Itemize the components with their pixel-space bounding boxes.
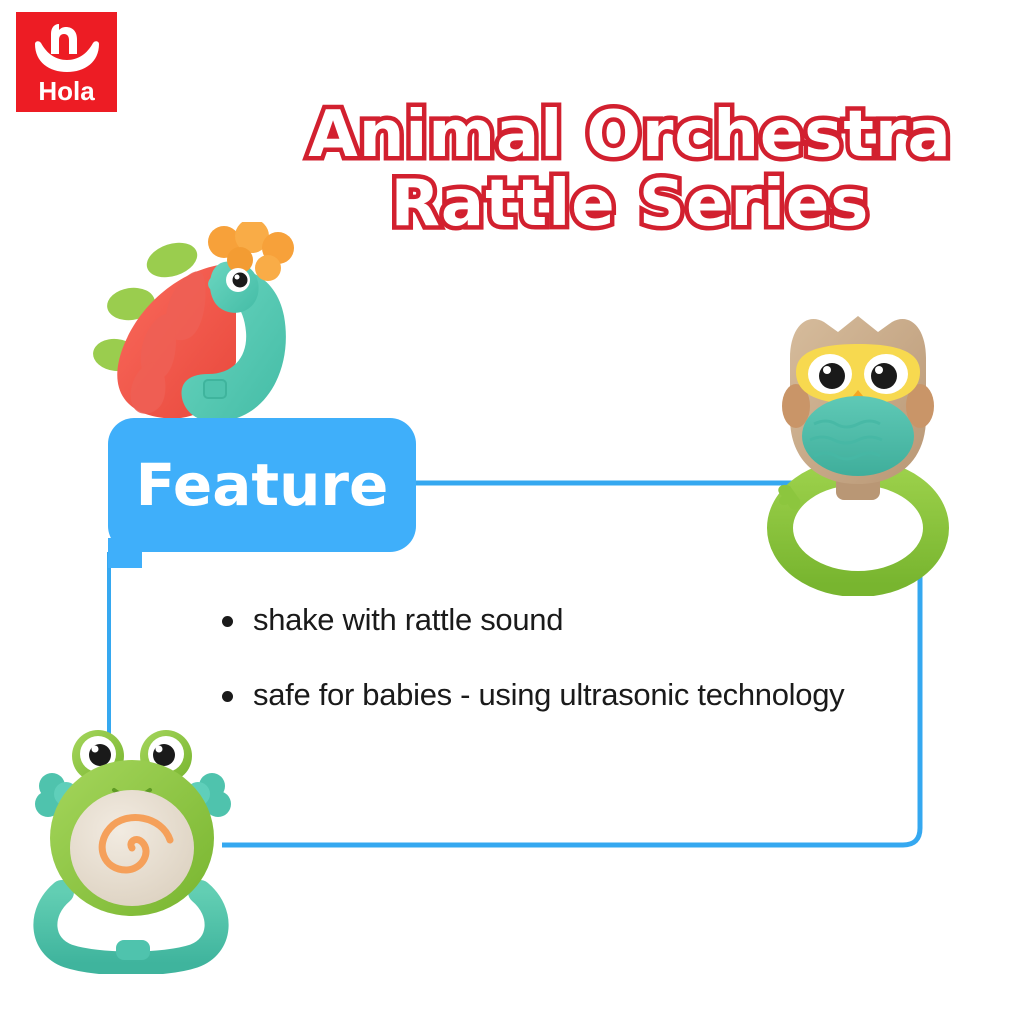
brand-logo: Hola — [16, 12, 117, 112]
feature-badge-label: Feature — [136, 456, 389, 514]
title-line-1: Animal Orchestra — [300, 104, 960, 167]
feature-badge: Feature — [108, 418, 416, 552]
bullet-text: shake with rattle sound — [253, 600, 563, 641]
page-title: Animal Orchestra Rattle Series — [300, 104, 960, 235]
bullet-dot-icon — [222, 616, 233, 627]
frog-rattle-toy — [32, 724, 262, 974]
list-item: safe for babies - using ultrasonic techn… — [222, 675, 872, 716]
peacock-eye — [226, 268, 250, 292]
owl-rattle-toy — [762, 306, 952, 596]
bullet-dot-icon — [222, 691, 233, 702]
peacock-button — [204, 380, 226, 398]
feature-bullet-list: shake with rattle sound safe for babies … — [222, 600, 872, 750]
badge-tail — [108, 538, 142, 568]
peacock-rattle-toy — [78, 222, 308, 442]
bullet-text: safe for babies - using ultrasonic techn… — [253, 675, 844, 716]
hola-smile-h-logo-icon — [29, 20, 105, 76]
infographic-page: Hola Animal Orchestra Rattle Series — [0, 0, 1024, 1024]
brand-name: Hola — [38, 78, 94, 104]
list-item: shake with rattle sound — [222, 600, 872, 641]
frog-ring-clasp — [116, 940, 150, 960]
title-line-2: Rattle Series — [300, 173, 960, 236]
